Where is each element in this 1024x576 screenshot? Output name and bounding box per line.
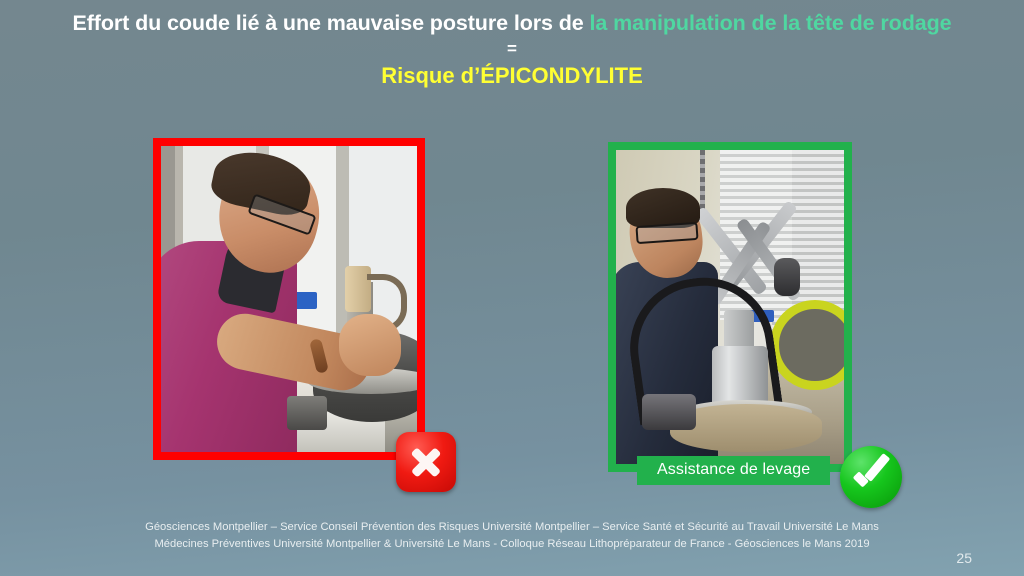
page-number: 25	[956, 550, 972, 566]
footer: Géosciences Montpellier – Service Consei…	[0, 519, 1024, 554]
cross-icon	[396, 432, 456, 492]
check-icon	[840, 446, 902, 508]
title-green-part: la manipulation de la tête de rodage	[590, 11, 952, 35]
title-equals-sign: =	[0, 39, 1024, 60]
photo-operator-hand	[339, 314, 401, 376]
title-risk-line: Risque d’ÉPICONDYLITE	[0, 63, 1024, 90]
photo-bad-practice-image	[161, 146, 417, 452]
footer-line-1: Géosciences Montpellier – Service Consei…	[0, 519, 1024, 536]
photo-bad-practice[interactable]	[153, 138, 425, 460]
photo-machine-clamp	[287, 396, 327, 430]
title-white-part: Effort du coude lié à une mauvaise postu…	[73, 11, 590, 35]
footer-line-2: Médecines Préventives Université Montpel…	[0, 536, 1024, 553]
photo-good-practice-image	[616, 150, 844, 464]
photo-good-practice[interactable]	[608, 142, 852, 472]
title-block: Effort du coude lié à une mauvaise postu…	[0, 10, 1024, 90]
title-line-primary: Effort du coude lié à une mauvaise postu…	[0, 10, 1024, 36]
photo-machine-clamp	[642, 394, 696, 430]
photo-wall-fixture	[774, 258, 800, 296]
caption-assistance-de-levage: Assistance de levage	[637, 456, 830, 485]
